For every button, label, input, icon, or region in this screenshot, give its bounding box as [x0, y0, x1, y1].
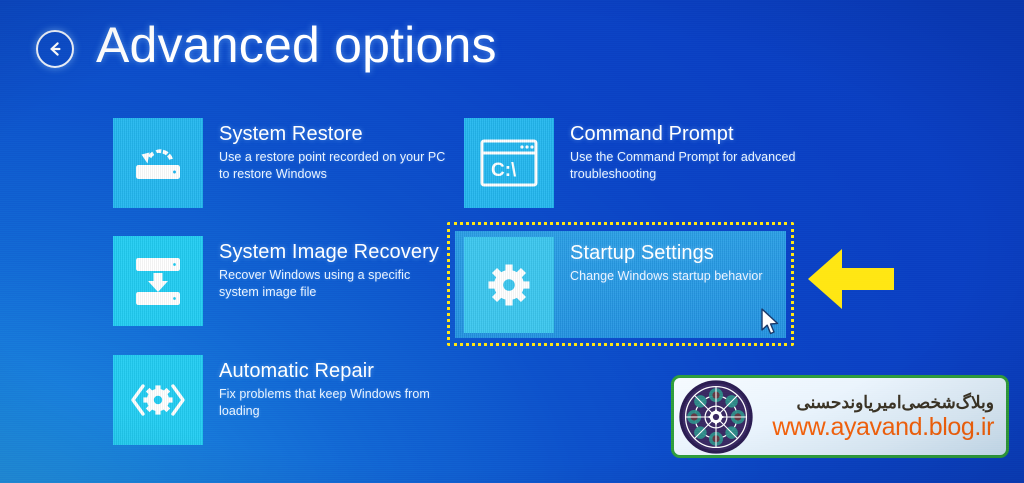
startup-settings-selection-box: [447, 222, 794, 346]
option-description: Use a restore point recorded on your PC …: [219, 149, 447, 183]
svg-text:C:\: C:\: [491, 160, 517, 181]
command-prompt-icon: C:\: [464, 118, 554, 208]
recovery-screen: Advanced options System Restore Use a re…: [0, 0, 1024, 483]
persian-mandala-logo-icon: [677, 378, 755, 456]
option-text-system-image-recovery: System Image Recovery Recover Windows us…: [219, 236, 447, 301]
back-arrow-circle-icon[interactable]: [36, 30, 74, 68]
option-title: Command Prompt: [570, 123, 798, 145]
option-title: System Restore: [219, 123, 447, 145]
system-restore-icon: [113, 118, 203, 208]
automatic-repair-icon: [113, 355, 203, 445]
option-tile-command-prompt[interactable]: C:\ Command Prompt Use the Command Promp…: [464, 118, 798, 208]
option-description: Use the Command Prompt for advanced trou…: [570, 149, 798, 183]
page-title: Advanced options: [96, 20, 497, 70]
watermark-url: www.ayavand.blog.ir: [755, 414, 994, 440]
option-text-system-restore: System Restore Use a restore point recor…: [219, 118, 447, 183]
option-text-command-prompt: Command Prompt Use the Command Prompt fo…: [570, 118, 798, 183]
watermark-persian-text: وبلاگ‌شخصی‌امیریاوندحسنی: [755, 393, 994, 413]
watermark-badge: وبلاگ‌شخصی‌امیریاوندحسنی www.ayavand.blo…: [671, 375, 1009, 458]
page-header: Advanced options: [36, 20, 497, 70]
system-image-recovery-icon: [113, 236, 203, 326]
option-text-automatic-repair: Automatic Repair Fix problems that keep …: [219, 355, 447, 420]
option-tile-system-restore[interactable]: System Restore Use a restore point recor…: [113, 118, 447, 208]
mouse-pointer-icon: [760, 308, 780, 341]
option-description: Recover Windows using a specific system …: [219, 267, 447, 301]
option-description: Fix problems that keep Windows from load…: [219, 386, 447, 420]
left-arrow-annotation: [806, 247, 896, 316]
option-tile-automatic-repair[interactable]: Automatic Repair Fix problems that keep …: [113, 355, 447, 445]
watermark-text: وبلاگ‌شخصی‌امیریاوندحسنی www.ayavand.blo…: [755, 393, 1006, 440]
option-tile-system-image-recovery[interactable]: System Image Recovery Recover Windows us…: [113, 236, 447, 326]
option-title: Automatic Repair: [219, 360, 447, 382]
option-title: System Image Recovery: [219, 241, 447, 263]
